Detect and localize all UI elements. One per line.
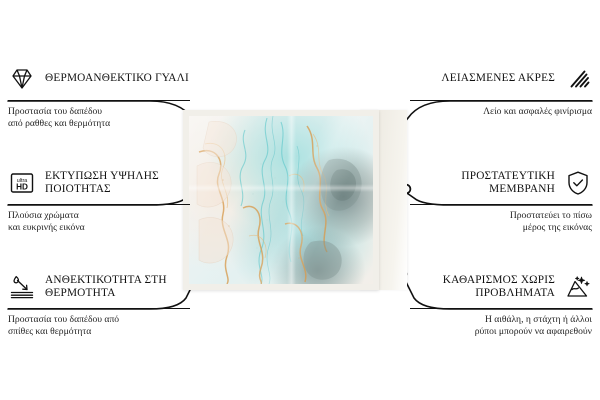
feature-header: ΛΕΙΑΣΜΕΝΕΣ ΑΚΡΕΣ bbox=[410, 62, 592, 96]
svg-text:HD: HD bbox=[16, 183, 28, 192]
divider bbox=[8, 100, 190, 101]
flame-heat-icon bbox=[8, 273, 36, 301]
feature-heat-resistant-glass: ΘΕΡΜΟΑΝΘΕΚΤΙΚΟ ΓΥΑΛΙ Προστασία του δαπέδ… bbox=[8, 62, 190, 131]
feature-header: ΘΕΡΜΟΑΝΘΕΚΤΙΚΟ ΓΥΑΛΙ bbox=[8, 62, 190, 96]
feature-title: ΕΚΤΥΠΩΣΗ ΥΨΗΛΗΣ ΠΟΙΟΤΗΤΑΣ bbox=[45, 170, 190, 197]
feature-heat-durability: ΑΝΘΕΚΤΙΚΟΤΗΤΑ ΣΤΗ ΘΕΡΜΟΤΗΤΑ Προστασία το… bbox=[8, 270, 190, 339]
sparkle-wipe-icon bbox=[564, 273, 592, 301]
feature-description: Προστατεύει το πίσω μέρος της εικόνας bbox=[410, 210, 592, 235]
feature-description: Προστασία του δαπέδου από ραθθες και θερ… bbox=[8, 106, 190, 131]
divider bbox=[8, 308, 190, 309]
shield-check-icon bbox=[564, 169, 592, 197]
infographic-canvas: ΘΕΡΜΟΑΝΘΕΚΤΙΚΟ ΓΥΑΛΙ Προστασία του δαπέδ… bbox=[0, 0, 600, 400]
feature-easy-cleaning: ΚΑΘΑΡΙΣΜΟΣ ΧΩΡΙΣ ΠΡΟΒΛΗΜΑΤΑ Η αιθάλη, η … bbox=[410, 270, 592, 339]
hatched-edge-icon bbox=[564, 65, 592, 93]
feature-description: Πλούσια χρώματα και ευκρινής εικόνα bbox=[8, 210, 190, 235]
feature-protective-membrane: ΠΡΟΣΤΑΤΕΥΤΙΚΗ ΜΕΜΒΡΑΝΗ Προστατεύει το πί… bbox=[410, 166, 592, 235]
feature-header: ultra HD ΕΚΤΥΠΩΣΗ ΥΨΗΛΗΣ ΠΟΙΟΤΗΤΑΣ bbox=[8, 166, 190, 200]
product-artwork bbox=[189, 116, 373, 284]
feature-high-quality-print: ultra HD ΕΚΤΥΠΩΣΗ ΥΨΗΛΗΣ ΠΟΙΟΤΗΤΑΣ Πλούσ… bbox=[8, 166, 190, 235]
feature-title: ΠΡΟΣΤΑΤΕΥΤΙΚΗ ΜΕΜΒΡΑΝΗ bbox=[410, 170, 555, 197]
product-image bbox=[183, 110, 407, 290]
divider bbox=[410, 100, 592, 101]
feature-title: ΚΑΘΑΡΙΣΜΟΣ ΧΩΡΙΣ ΠΡΟΒΛΗΜΑΤΑ bbox=[410, 274, 555, 301]
divider bbox=[410, 308, 592, 309]
feature-smooth-edges: ΛΕΙΑΣΜΕΝΕΣ ΑΚΡΕΣ Λείο και ασφαλές φινίρι… bbox=[410, 62, 592, 118]
feature-title: ΘΕΡΜΟΑΝΘΕΚΤΙΚΟ ΓΥΑΛΙ bbox=[45, 72, 190, 86]
divider bbox=[410, 204, 592, 205]
feature-description: Λείο και ασφαλές φινίρισμα bbox=[410, 106, 592, 118]
feature-title: ΛΕΙΑΣΜΕΝΕΣ ΑΚΡΕΣ bbox=[410, 72, 555, 86]
diamond-icon bbox=[8, 65, 36, 93]
feature-description: Η αιθάλη, η στάχτη ή άλλοι ρύποι μπορούν… bbox=[410, 314, 592, 339]
divider bbox=[8, 204, 190, 205]
ultra-hd-icon: ultra HD bbox=[8, 169, 36, 197]
feature-header: ΚΑΘΑΡΙΣΜΟΣ ΧΩΡΙΣ ΠΡΟΒΛΗΜΑΤΑ bbox=[410, 270, 592, 304]
feature-title: ΑΝΘΕΚΤΙΚΟΤΗΤΑ ΣΤΗ ΘΕΡΜΟΤΗΤΑ bbox=[45, 274, 190, 301]
feature-header: ΑΝΘΕΚΤΙΚΟΤΗΤΑ ΣΤΗ ΘΕΡΜΟΤΗΤΑ bbox=[8, 270, 190, 304]
feature-header: ΠΡΟΣΤΑΤΕΥΤΙΚΗ ΜΕΜΒΡΑΝΗ bbox=[410, 166, 592, 200]
feature-description: Προστασία του δαπέδου από σπίθες και θερ… bbox=[8, 314, 190, 339]
